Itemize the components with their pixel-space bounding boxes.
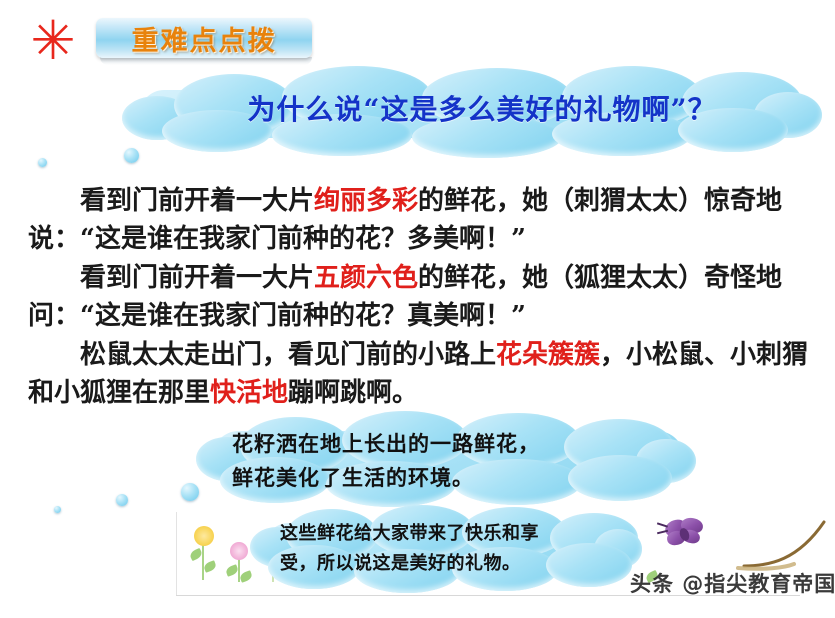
- body-text-run: 松鼠太太走出门，看见门前的小路上: [80, 340, 496, 370]
- butterfly-icon: [661, 518, 705, 548]
- middle-cloud: 花籽洒在地上长出的一路鲜花，鲜花美化了生活的环境。: [196, 411, 696, 507]
- body-paragraph-hedgehog: 看到门前开着一大片绚丽多彩的鲜花，她（刺猬太太）惊奇地说：“这是谁在我家门前种的…: [28, 182, 818, 258]
- middle-cloud-line1: 花籽洒在地上长出的一路鲜花，: [232, 431, 540, 456]
- question-cloud: 为什么说“这是多么美好的礼物啊”？: [122, 66, 822, 158]
- body-text-block: 看到门前开着一大片绚丽多彩的鲜花，她（刺猬太太）惊奇地说：“这是谁在我家门前种的…: [28, 182, 818, 413]
- banner-shadow: [100, 57, 312, 65]
- section-title-label: 重难点点拨: [132, 19, 277, 58]
- frame-left-edge: [176, 512, 177, 596]
- question-cloud-text: 为什么说“这是多么美好的礼物啊”？: [162, 88, 802, 128]
- bubble-decoration: [38, 158, 47, 167]
- bottom-cloud-line2: 受，所以说这是美好的礼物。: [280, 553, 521, 574]
- body-text-run: 看到门前开着一大片: [80, 186, 314, 216]
- slide-canvas: ✳ 重难点点拨 为什么说“这是多么美好的礼物啊”？ 看到门前开着一大片绚丽多彩的…: [0, 0, 835, 618]
- body-text-run: 蹦啊跳啊。: [288, 378, 418, 408]
- bottom-cloud-line1: 这些鲜花给大家带来了快乐和享: [280, 523, 539, 544]
- section-title-banner: 重难点点拨: [96, 18, 312, 58]
- bubble-decoration: [124, 148, 139, 163]
- bubble-decoration: [54, 506, 61, 513]
- bottom-cloud-text: 这些鲜花给大家带来了快乐和享受，所以说这是美好的礼物。: [280, 519, 620, 579]
- highlighted-phrase: 五颜六色: [314, 263, 418, 293]
- highlighted-phrase: 绚丽多彩: [314, 186, 418, 216]
- curved-branch-icon: [736, 516, 835, 572]
- middle-cloud-line2: 鲜花美化了生活的环境。: [232, 465, 474, 490]
- body-paragraph-squirrel: 松鼠太太走出门，看见门前的小路上花朵簇簇，小松鼠、小刺猬和小狐狸在那里快活地蹦啊…: [28, 336, 818, 412]
- middle-cloud-text: 花籽洒在地上长出的一路鲜花，鲜花美化了生活的环境。: [232, 427, 662, 495]
- highlighted-phrase: 快活地: [210, 378, 288, 408]
- watermark-label: 头条 @指尖教育帝国: [630, 568, 835, 598]
- bubble-decoration: [116, 494, 128, 506]
- red-asterisk-icon: ✳: [30, 18, 76, 64]
- highlighted-phrase: 花朵簇簇: [496, 340, 600, 370]
- bottom-cloud: 这些鲜花给大家带来了快乐和享受，所以说这是美好的礼物。: [250, 505, 640, 593]
- body-paragraph-fox: 看到门前开着一大片五颜六色的鲜花，她（狐狸太太）奇怪地问：“这是谁在我家门前种的…: [28, 259, 818, 335]
- body-text-run: 看到门前开着一大片: [80, 263, 314, 293]
